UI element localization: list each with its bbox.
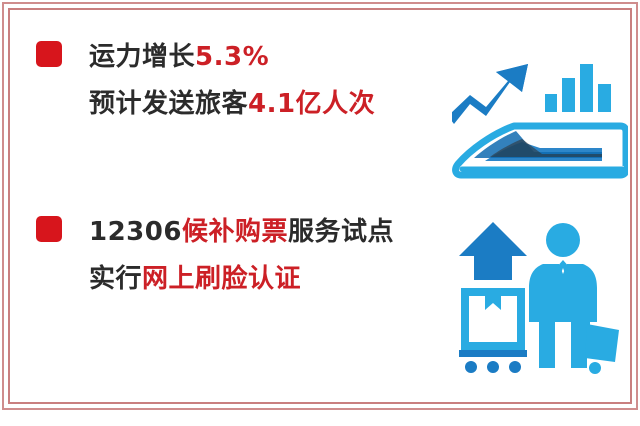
line-3-segment-1: 12306 [89, 217, 182, 247]
bullet-item-2-line-1: 12306候补购票服务试点 [89, 209, 394, 256]
line-3-segment-3: 服务试点 [288, 217, 394, 247]
bullet-item-2: 12306候补购票服务试点 实行网上刷脸认证 [36, 209, 394, 303]
line-2-segment-1: 预计发送旅客 [89, 89, 248, 119]
line-1-segment-2: 5.3% [195, 42, 269, 72]
line-4-segment-2: 网上刷脸认证 [142, 264, 301, 294]
rising-arrow-icon [452, 64, 528, 124]
cart-icon [459, 350, 527, 373]
line-1-segment-1: 运力增长 [89, 42, 195, 72]
high-speed-train-growth-icon [452, 42, 628, 190]
infographic-canvas: 运力增长5.3% 预计发送旅客4.1亿人次 [0, 0, 640, 426]
passenger-luggage-cart-icon [455, 218, 627, 374]
line-2-segment-2: 4.1亿人次 [248, 89, 375, 119]
line-4-segment-1: 实行 [89, 264, 142, 294]
line-3-segment-2: 候补购票 [182, 217, 288, 247]
bullet-item-1-line-2: 预计发送旅客4.1亿人次 [89, 81, 375, 128]
red-square-bullet-2 [36, 216, 62, 242]
bullet-item-1-lines: 运力增长5.3% 预计发送旅客4.1亿人次 [89, 34, 375, 128]
bullet-item-1: 运力增长5.3% 预计发送旅客4.1亿人次 [36, 34, 375, 128]
bullet-train-icon [456, 126, 626, 175]
bullet-item-2-line-2: 实行网上刷脸认证 [89, 256, 394, 303]
red-square-bullet-1 [36, 41, 62, 67]
up-arrow-icon [459, 222, 527, 280]
bullet-item-2-lines: 12306候补购票服务试点 实行网上刷脸认证 [89, 209, 394, 303]
bullet-item-1-line-1: 运力增长5.3% [89, 34, 375, 81]
bar-chart-icon [545, 64, 611, 112]
cargo-box-icon [465, 292, 521, 346]
